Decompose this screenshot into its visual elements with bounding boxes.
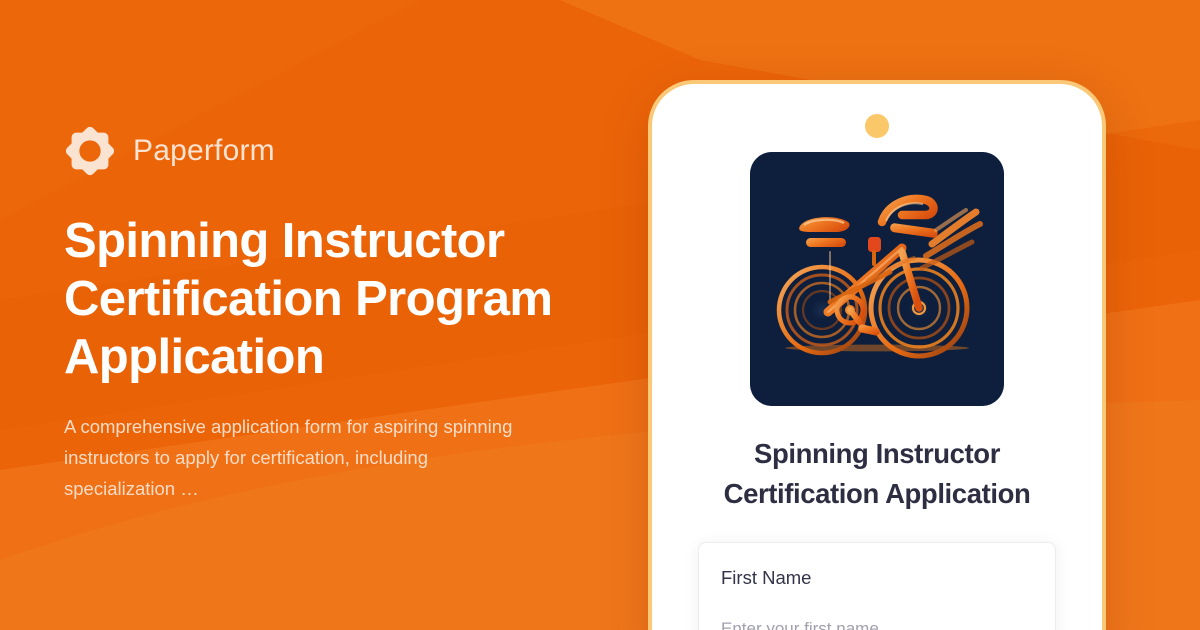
first-name-label: First Name	[721, 567, 1033, 589]
page-description: A comprehensive application form for asp…	[64, 412, 534, 505]
camera-dot-icon	[865, 114, 889, 138]
phone-mockup: Spinning Instructor Certification Applic…	[648, 80, 1106, 630]
brand-logo: Paperform	[64, 125, 634, 177]
hero-panel: Paperform Spinning Instructor Certificat…	[64, 0, 664, 630]
spin-bike-illustration-icon	[750, 152, 1004, 406]
first-name-input[interactable]	[721, 619, 1033, 630]
page-title: Spinning Instructor Certification Progra…	[64, 213, 604, 386]
form-field-card: First Name	[698, 542, 1056, 630]
paperform-star-logo-icon	[64, 125, 116, 177]
form-title: Spinning Instructor Certification Applic…	[652, 434, 1102, 513]
brand-name: Paperform	[133, 136, 275, 166]
